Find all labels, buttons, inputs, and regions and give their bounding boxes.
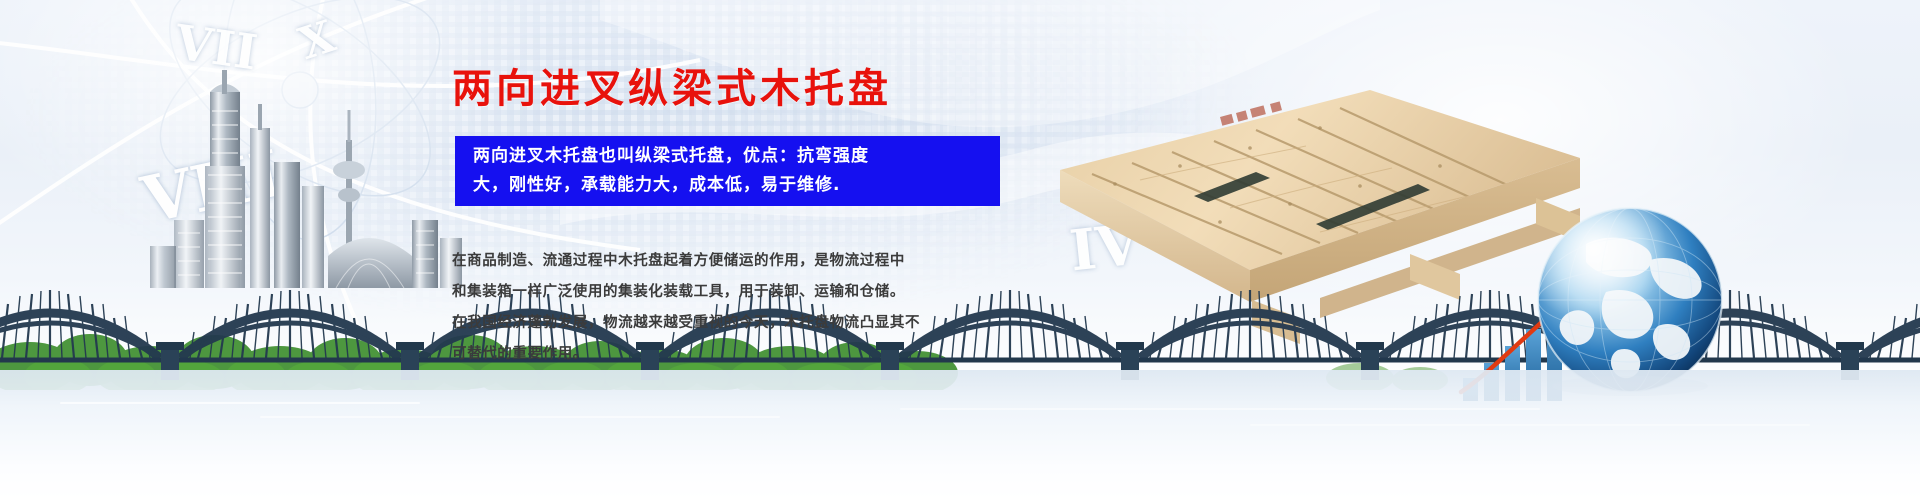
water-streak xyxy=(260,416,780,418)
highlight-line-2: 大，刚性好，承载能力大，成本低，易于维修. xyxy=(473,171,988,200)
description-paragraph: 在商品制造、流通过程中木托盘起着方便储运的作用，是物流过程中 和集装箱一样广泛使… xyxy=(452,246,1032,370)
water-streak xyxy=(60,402,420,404)
product-banner: VIII VII X IV xyxy=(0,0,1920,500)
description-line-2: 和集装箱一样广泛使用的集装化装载工具，用于装卸、运输和仓储。 xyxy=(452,277,1032,308)
water-streak xyxy=(1250,424,1810,426)
description-line-1: 在商品制造、流通过程中木托盘起着方便储运的作用，是物流过程中 xyxy=(452,246,1032,277)
page-title: 两向进叉纵梁式木托盘 xyxy=(452,56,1012,114)
highlight-line-1: 两向进叉木托盘也叫纵梁式托盘，优点：抗弯强度 xyxy=(473,142,988,171)
water-streak xyxy=(900,408,1540,410)
description-line-4: 可替代的重要作用。 xyxy=(452,339,1032,370)
water-reflection xyxy=(0,370,1920,500)
description-line-3: 在我国经济蓬勃发展，物流越来越受重视的今天，木托盘物流凸显其不 xyxy=(452,308,1032,339)
highlight-callout-box: 两向进叉木托盘也叫纵梁式托盘，优点：抗弯强度 大，刚性好，承载能力大，成本低，易… xyxy=(455,136,1000,206)
